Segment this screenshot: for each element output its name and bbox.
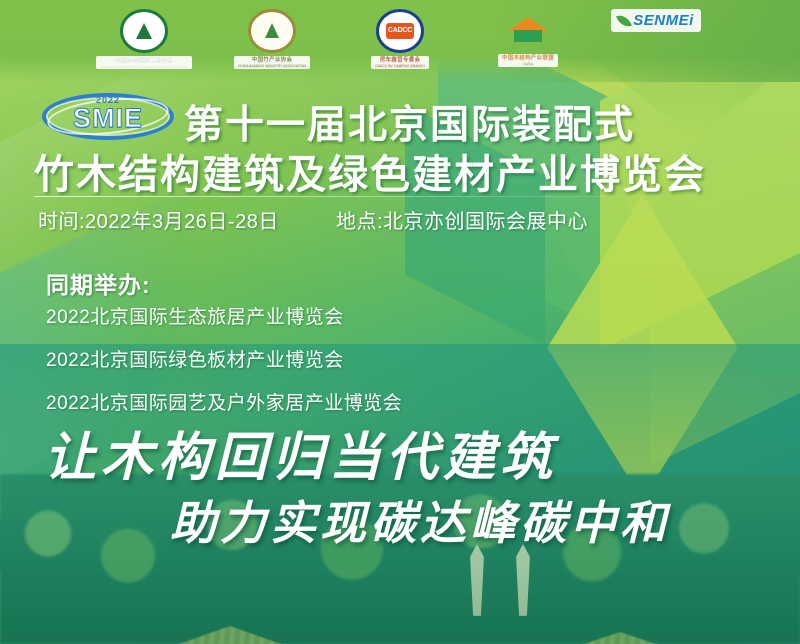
organizer-logo-strip: 中国木材保护工业协会 CHINA WOOD PROTECTION INDUSTR…: [0, 8, 800, 70]
organizer-logo-5: SENMEi: [608, 9, 704, 69]
concurrent-event-item: 2022北京国际生态旅居产业博览会: [46, 302, 402, 329]
tree-shield-icon: [120, 9, 168, 53]
organizer-logo-2: 中国竹产业协会 CHINA BAMBOO INDUSTRY ASSOCIATIO…: [224, 9, 320, 69]
senmei-wordmark: SENMEi: [633, 12, 694, 29]
organizer-logo-4: 中国木结构产业联盟 CWSA: [480, 9, 576, 69]
organizer-logo-3: CADCC 房车露营专委会 CADCC RV CAMPING BRANCH: [352, 9, 448, 69]
senmei-logo: SENMEi: [611, 9, 701, 32]
event-date: 时间:2022年3月26日-28日: [38, 205, 279, 234]
leaf-icon: [616, 12, 632, 29]
cadcc-mark-text: CADCC: [386, 23, 414, 39]
slogan-line-1: 让木构回归当代建筑: [44, 415, 557, 490]
organizer-label-2: 中国竹产业协会 CHINA BAMBOO INDUSTRY ASSOCIATIO…: [234, 56, 310, 69]
organizer-logo-1: 中国木材保护工业协会 CHINA WOOD PROTECTION INDUSTR…: [96, 9, 192, 69]
concurrent-event-item: 2022北京国际绿色板材产业博览会: [46, 345, 402, 372]
concurrent-heading: 同期举办:: [46, 266, 151, 300]
smie-wordmark: SMIE: [42, 103, 174, 134]
headline-line-2: 竹木结构建筑及绿色建材产业博览会: [34, 142, 706, 200]
concurrent-event-item: 2022北京国际园艺及户外家居产业博览会: [46, 388, 402, 415]
headline-divider: [34, 196, 694, 197]
exhibition-poster: 中国木材保护工业协会 CHINA WOOD PROTECTION INDUSTR…: [0, 0, 800, 644]
concurrent-event-list: 2022北京国际生态旅居产业博览会 2022北京国际绿色板材产业博览会 2022…: [46, 302, 402, 415]
organizer-label-4: 中国木结构产业联盟 CWSA: [498, 54, 558, 67]
organizer-label-3: 房车露营专委会 CADCC RV CAMPING BRANCH: [371, 56, 429, 69]
bamboo-seal-icon: [248, 9, 296, 53]
slogan-line-2: 助力实现碳达峰碳中和: [170, 487, 670, 553]
cadcc-badge-icon: CADCC: [376, 9, 424, 53]
smie-logo: 2022 SMIE: [42, 93, 174, 140]
event-venue: 地点:北京亦创国际会展中心: [336, 205, 588, 234]
organizer-label-1: 中国木材保护工业协会 CHINA WOOD PROTECTION INDUSTR…: [96, 56, 191, 69]
house-roof-icon: [507, 9, 549, 51]
